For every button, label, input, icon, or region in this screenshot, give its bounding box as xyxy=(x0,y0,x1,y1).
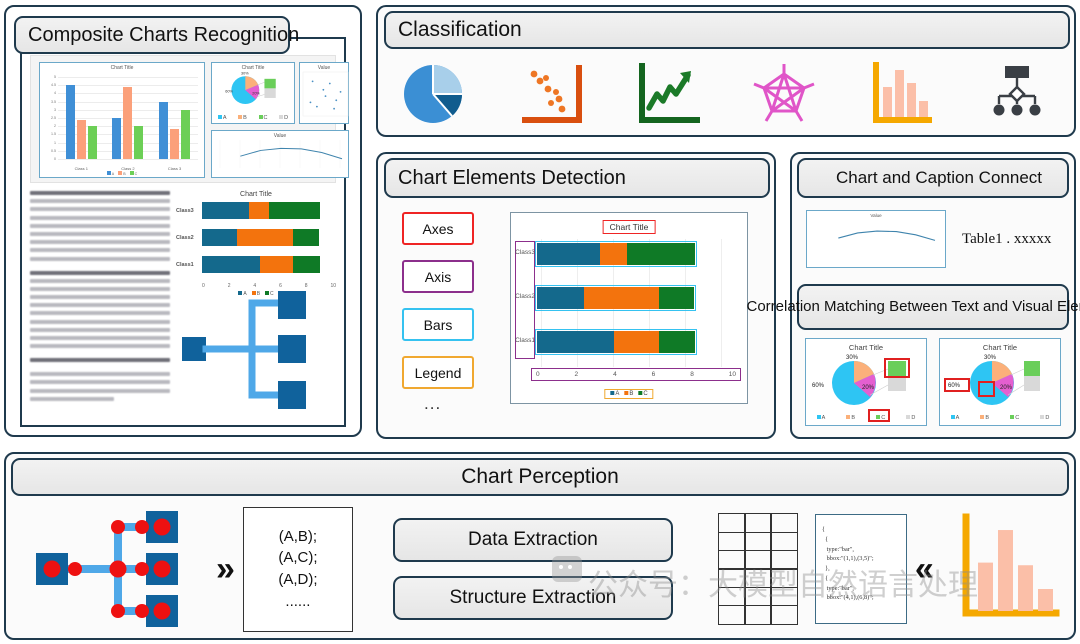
legend-item: A xyxy=(610,391,619,397)
paper-text-line xyxy=(30,191,170,195)
pie-label-60: 60% xyxy=(225,90,233,94)
corr-left-slice-highlight xyxy=(884,358,910,378)
table-cell xyxy=(770,568,797,588)
mini-scatter-chart: Value xyxy=(299,62,349,124)
legend-item: A xyxy=(951,415,960,421)
legend-item: C xyxy=(876,415,885,421)
category-label: Class2 xyxy=(176,235,202,241)
y-tick-label: 2 xyxy=(42,124,56,128)
mini-pie-chart: Chart Title 60% 30% 20% ABCD xyxy=(211,62,295,124)
mini-line-svg xyxy=(212,138,350,176)
y-tick-label: 0 xyxy=(42,157,56,161)
legend-item: C xyxy=(130,171,138,176)
header-correlation-matching: Correlation Matching Between Text and Vi… xyxy=(797,284,1069,330)
bar-segment xyxy=(584,287,660,309)
x-tick-label: 4 xyxy=(613,371,617,378)
ced-bar-highlight xyxy=(535,285,696,311)
mini-line-chart: Value xyxy=(211,130,349,178)
bar-segment xyxy=(260,256,294,273)
legend-item: A xyxy=(817,415,826,421)
paper-text-column xyxy=(30,191,170,405)
stacked-row: Class2 xyxy=(176,229,336,246)
stacked-row: Class1 xyxy=(176,256,336,273)
bar-segment xyxy=(537,243,600,265)
cp-graph-diagram xyxy=(28,505,208,633)
bar-group: Class 2 xyxy=(105,77,152,159)
cp-bar-chart xyxy=(956,513,1060,625)
legend-item: A xyxy=(218,115,227,121)
bar xyxy=(77,120,86,159)
ccc-caption-text: Table1 . xxxxx xyxy=(962,231,1051,248)
bar-segment xyxy=(249,202,269,219)
bar-group: Class 1 xyxy=(58,77,105,159)
paper-page-mock: Chart Title 54.543.532.521.510.50Class 1… xyxy=(20,37,346,427)
bar-segment xyxy=(202,256,260,273)
category-label: Class3 xyxy=(176,208,202,214)
table-cell xyxy=(718,513,745,533)
legend-item: D xyxy=(279,115,288,121)
data-extraction-button[interactable]: Data Extraction xyxy=(393,518,673,562)
ccc-title-text: Chart and Caption Connect xyxy=(836,168,1042,188)
bar-segment xyxy=(537,287,584,309)
stacked-chart-title: Chart Title xyxy=(176,191,336,198)
table-cell xyxy=(770,587,797,607)
json-line: }, xyxy=(822,564,900,574)
paper-text-line xyxy=(30,328,170,332)
classification-title-text: Classification xyxy=(398,18,522,42)
corr-left-legend: ABCD xyxy=(806,415,926,421)
corr-pie-card-left: Chart Title 60% 30% 20% ABCD xyxy=(805,338,927,426)
stacked-row: Class3 xyxy=(176,202,336,219)
paper-stacked-figure: Chart Title Class3Class2Class1 0246810 A… xyxy=(176,191,336,297)
table-cell xyxy=(744,587,771,607)
legend-item: C xyxy=(638,391,647,397)
mini-scatter-svg xyxy=(300,69,350,121)
ccc-correlation-pies: Chart Title 60% 30% 20% ABCD xyxy=(792,338,1074,426)
figure-root: Chart Title 54.543.532.521.510.50Class 1… xyxy=(0,0,1080,644)
legend-item: B xyxy=(846,415,855,421)
y-tick-label: 4.5 xyxy=(42,83,56,87)
y-tick-label: 3.5 xyxy=(42,100,56,104)
bar xyxy=(66,85,75,159)
corr-right-20: 20% xyxy=(1000,385,1013,391)
y-tick-label: 1.5 xyxy=(42,132,56,136)
bar xyxy=(181,110,190,159)
category-label: Class1 xyxy=(176,262,202,268)
paper-text-line xyxy=(30,311,170,315)
x-tick-label: 8 xyxy=(690,371,694,378)
bar-segment xyxy=(269,202,320,219)
pie-label-20: 20% xyxy=(252,91,260,95)
json-line: type:"bar", xyxy=(822,545,900,555)
bar xyxy=(112,118,121,159)
bar-segment xyxy=(600,243,627,265)
stacked-bar xyxy=(202,256,336,273)
ced-body: AxesAxisBarsLegend ... Chart Title 02468… xyxy=(378,198,774,437)
ced-legend-highlight: ABC xyxy=(604,389,653,399)
bar-segment xyxy=(202,229,237,246)
corr-left-60: 60% xyxy=(812,383,825,389)
gridline xyxy=(58,159,198,160)
ced-chart-title: Chart Title xyxy=(603,220,656,234)
bar-group: Class 3 xyxy=(151,77,198,159)
ced-tag-legend[interactable]: Legend xyxy=(402,356,474,389)
legend-item: D xyxy=(1040,415,1049,421)
paper-text-line xyxy=(30,287,170,291)
legend-item: B xyxy=(980,415,989,421)
paper-text-line xyxy=(30,207,170,211)
y-tick-label: 0.5 xyxy=(42,149,56,153)
ced-stacked-bar-chart: Chart Title 0246810 ABC Class3Class2Clas… xyxy=(510,212,748,404)
table-cell xyxy=(744,568,771,588)
paper-text-line xyxy=(30,199,170,203)
table-cell xyxy=(718,568,745,588)
paper-text-line xyxy=(30,271,170,275)
ced-bar-highlight xyxy=(535,329,697,355)
ced-stacked-bar xyxy=(537,243,695,265)
legend-item: B xyxy=(118,171,125,176)
paper-text-line xyxy=(30,295,170,299)
paper-text-line xyxy=(30,224,170,228)
x-tick-label: 6 xyxy=(652,371,656,378)
table-cell xyxy=(744,605,771,625)
paper-text-line xyxy=(30,372,170,376)
x-tick-label: 0 xyxy=(536,371,540,378)
json-line: bbox:"(1,1),(3,5)"; xyxy=(822,554,900,564)
legend-item: A xyxy=(107,171,114,176)
paper-tree-diagram xyxy=(182,283,332,413)
table-cell xyxy=(718,532,745,552)
structure-extraction-button[interactable]: Structure Extraction xyxy=(393,576,673,620)
paper-figure-strip: Chart Title 54.543.532.521.510.50Class 1… xyxy=(30,55,336,183)
legend-item: C xyxy=(259,115,268,121)
mini-grouped-bar-chart: Chart Title 54.543.532.521.510.50Class 1… xyxy=(39,62,205,178)
bar xyxy=(134,126,143,159)
y-tick-label: 5 xyxy=(42,75,56,79)
mini-pie-legend: ABCD xyxy=(212,115,294,121)
ced-tag-bars[interactable]: Bars xyxy=(402,308,474,341)
line-chart-icon[interactable] xyxy=(631,56,705,130)
bar-segment xyxy=(659,287,693,309)
corr-right-legend: ABCD xyxy=(940,415,1060,421)
ccc-top-row: Value Table1 . xxxxx xyxy=(792,200,1074,278)
corr-right-title: Chart Title xyxy=(940,343,1060,352)
bar xyxy=(88,126,97,159)
cp-title-text: Chart Perception xyxy=(461,465,619,489)
ced-x-axis-highlight: 0246810 xyxy=(531,368,741,381)
bar-segment xyxy=(202,202,249,219)
cp-body: » (A,B);(A,C);(A,D);...... Data Extracti… xyxy=(6,500,1074,638)
pie-chart-icon[interactable] xyxy=(399,56,473,130)
scatter-plot-icon[interactable] xyxy=(515,56,589,130)
ced-stacked-bar xyxy=(537,331,695,353)
paper-body: Chart Title Class3Class2Class1 0246810 A… xyxy=(30,191,336,417)
bar-segment xyxy=(627,243,695,265)
paper-text-line xyxy=(30,336,170,340)
data-extraction-label: Data Extraction xyxy=(468,529,598,551)
legend-item: B xyxy=(238,115,247,121)
table-cell xyxy=(718,587,745,607)
panel-composite-charts-recognition: Chart Title 54.543.532.521.510.50Class 1… xyxy=(4,5,362,437)
chevron-right-icon: » xyxy=(216,552,235,586)
ced-ellipsis: ... xyxy=(424,394,441,414)
ced-title-text: Chart Elements Detection xyxy=(398,167,626,190)
json-line: { xyxy=(822,535,900,545)
ced-category-label: Class1 xyxy=(515,337,535,344)
bar-segment xyxy=(293,256,320,273)
pie-label-30: 30% xyxy=(241,71,249,75)
paper-text-line xyxy=(30,257,170,261)
table-cell xyxy=(770,550,797,570)
classification-icon-row xyxy=(378,55,1074,131)
table-cell xyxy=(744,550,771,570)
json-line: bbox:"(4,1),(6,8)"; xyxy=(822,593,900,603)
table-cell xyxy=(770,513,797,533)
x-tick-label: 10 xyxy=(729,371,736,378)
cp-pairs-box: (A,B);(A,C);(A,D);...... xyxy=(243,507,353,632)
mini-bar-title: Chart Title xyxy=(40,65,204,71)
y-tick-label: 1 xyxy=(42,141,56,145)
flowchart-icon[interactable] xyxy=(979,56,1053,130)
radar-chart-icon[interactable] xyxy=(747,56,821,130)
cp-button-group: Data Extraction Structure Extraction xyxy=(393,518,673,620)
y-tick-label: 3 xyxy=(42,108,56,112)
composite-title-text: Composite Charts Recognition xyxy=(28,24,299,47)
ced-bar-highlight xyxy=(535,241,697,267)
corr-left-title: Chart Title xyxy=(806,343,926,352)
bar-segment xyxy=(293,229,318,246)
ced-category-label: Class3 xyxy=(515,249,535,256)
paper-text-line xyxy=(30,248,170,252)
paper-text-line xyxy=(30,216,170,220)
json-line: { xyxy=(822,574,900,584)
ced-tag-axis[interactable]: Axis xyxy=(402,260,474,293)
bar-segment xyxy=(237,229,293,246)
y-tick-label: 2.5 xyxy=(42,116,56,120)
json-line: type:"bar", xyxy=(822,584,900,594)
bar xyxy=(170,129,179,159)
table-cell xyxy=(744,513,771,533)
legend-item: C xyxy=(1010,415,1019,421)
y-tick-label: 4 xyxy=(42,91,56,95)
pair-line: (A,B); xyxy=(279,526,317,548)
table-cell xyxy=(770,532,797,552)
mini-bar-plot-area: 54.543.532.521.510.50Class 1Class 2Class… xyxy=(58,77,198,159)
bar-segment xyxy=(659,331,695,353)
corr-left-20: 20% xyxy=(862,385,875,391)
corr-right-30: 30% xyxy=(984,355,997,361)
paper-text-line xyxy=(30,240,170,244)
bar-chart-icon[interactable] xyxy=(863,56,937,130)
stacked-bar xyxy=(202,229,336,246)
corr-pie-card-right: Chart Title 60% 30% 20% ABCD xyxy=(939,338,1061,426)
cp-json-box: { { type:"bar", bbox:"(1,1),(3,5)"; }, {… xyxy=(815,514,907,624)
corr-right-label-highlight xyxy=(944,378,970,392)
paper-text-line xyxy=(30,320,170,324)
header-composite-charts-recognition: Composite Charts Recognition xyxy=(14,16,290,54)
ced-category-label: Class2 xyxy=(515,293,535,300)
ced-tag-axes[interactable]: Axes xyxy=(402,212,474,245)
header-chart-and-caption-connect: Chart and Caption Connect xyxy=(797,158,1069,198)
ccc-line-svg xyxy=(807,217,947,263)
paper-text-line xyxy=(30,389,170,393)
watermark-badge-icon xyxy=(552,556,582,582)
paper-text-line xyxy=(30,358,170,362)
chevron-left-icon: « xyxy=(915,552,934,586)
mini-pie-svg: 60% 30% 20% xyxy=(212,71,296,111)
x-tick-label: 2 xyxy=(575,371,579,378)
pair-line: (A,D); xyxy=(278,569,317,591)
cp-table-grid xyxy=(719,514,797,624)
pair-line: ...... xyxy=(285,591,310,613)
header-chart-perception: Chart Perception xyxy=(11,458,1069,496)
legend-item: B xyxy=(624,391,633,397)
pair-line: (A,C); xyxy=(278,547,317,569)
gridline xyxy=(721,239,722,367)
bar xyxy=(159,102,168,159)
table-cell xyxy=(744,532,771,552)
table-cell xyxy=(718,605,745,625)
table-cell xyxy=(718,550,745,570)
header-chart-elements-detection: Chart Elements Detection xyxy=(384,158,770,198)
mini-bar-legend: ABC xyxy=(40,171,204,176)
structure-extraction-label: Structure Extraction xyxy=(450,587,617,609)
paper-text-line xyxy=(30,380,170,384)
ccc-line-chart: Value xyxy=(806,210,946,268)
corr-right-slice-highlight xyxy=(978,381,995,397)
legend-item: D xyxy=(906,415,915,421)
bar xyxy=(123,87,132,159)
header-classification: Classification xyxy=(384,11,1070,49)
paper-text-line xyxy=(30,232,170,236)
paper-text-line xyxy=(30,303,170,307)
paper-text-line xyxy=(30,344,170,348)
json-line: { xyxy=(822,525,900,535)
bar-segment xyxy=(614,331,659,353)
ced-stacked-bar xyxy=(537,287,694,309)
paper-text-line xyxy=(30,397,114,401)
table-cell xyxy=(770,605,797,625)
correlation-title-text: Correlation Matching Between Text and Vi… xyxy=(747,298,1080,315)
paper-text-line xyxy=(30,279,170,283)
stacked-bar xyxy=(202,202,336,219)
corr-left-30: 30% xyxy=(846,355,859,361)
bar-segment xyxy=(537,331,614,353)
